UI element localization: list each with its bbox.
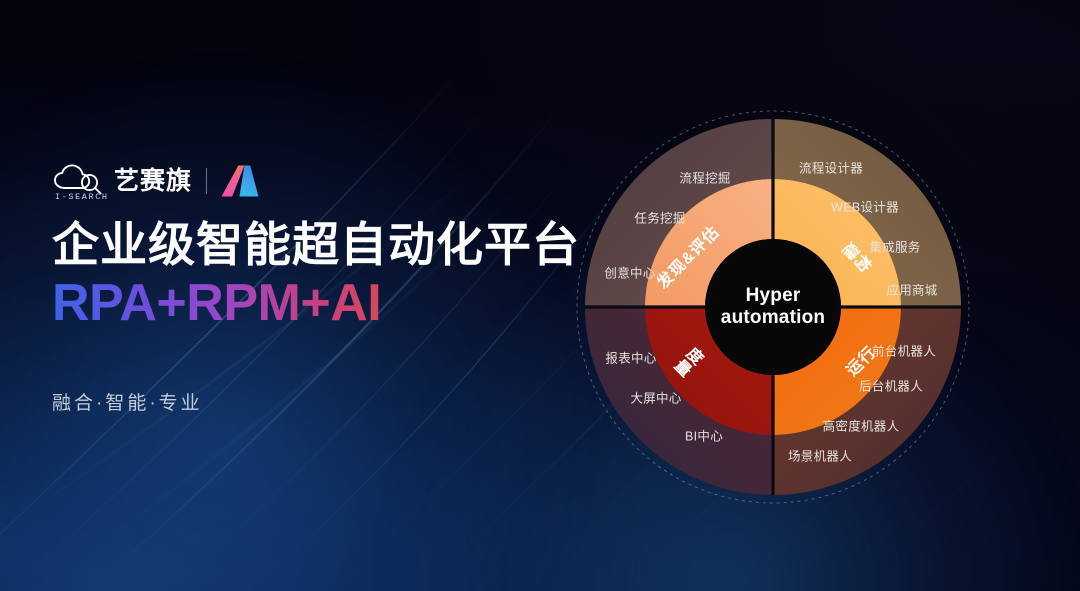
outer-label-build-4[interactable]: 应用商城 [886,280,937,299]
isearch-wordmark: I-SEARCH [55,192,109,202]
outer-label-discover-1[interactable]: 流程挖掘 [679,168,730,187]
outer-label-measure-3[interactable]: BI中心 [685,426,723,445]
outer-label-discover-2[interactable]: 任务挖掘 [634,208,685,227]
a-mark-icon [220,164,260,198]
outer-label-build-1[interactable]: 流程设计器 [799,158,863,177]
outer-label-measure-1[interactable]: 报表中心 [605,348,656,367]
headline-block: I-SEARCH 艺赛旗 [52,158,612,415]
hyperautomation-wheel: Hyper automation 流程挖掘 任务挖掘 创意中心 流程设计器 WE… [573,107,973,507]
cloud-search-icon: I-SEARCH [52,161,104,201]
page-subtitle: RPA+RPM+AI [52,275,612,332]
outer-label-run-2[interactable]: 后台机器人 [859,376,923,395]
company-name-cn: 艺赛旗 [114,169,192,194]
slide-canvas: I-SEARCH 艺赛旗 [0,0,1080,591]
outer-label-run-3[interactable]: 高密度机器人 [823,416,900,435]
outer-label-run-1[interactable]: 前台机器人 [872,341,936,360]
page-title: 企业级智能超自动化平台 [52,220,612,271]
tagline: 融合·智能·专业 [52,388,612,415]
logo-divider [206,168,207,194]
outer-label-measure-2[interactable]: 大屏中心 [630,388,681,407]
brand-logo: I-SEARCH 艺赛旗 [52,158,612,204]
outer-label-build-2[interactable]: WEB设计器 [831,197,899,216]
outer-label-run-4[interactable]: 场景机器人 [788,446,852,465]
outer-label-discover-3[interactable]: 创意中心 [604,263,655,282]
wheel-core [705,239,841,375]
outer-label-build-3[interactable]: 集成服务 [869,237,920,256]
